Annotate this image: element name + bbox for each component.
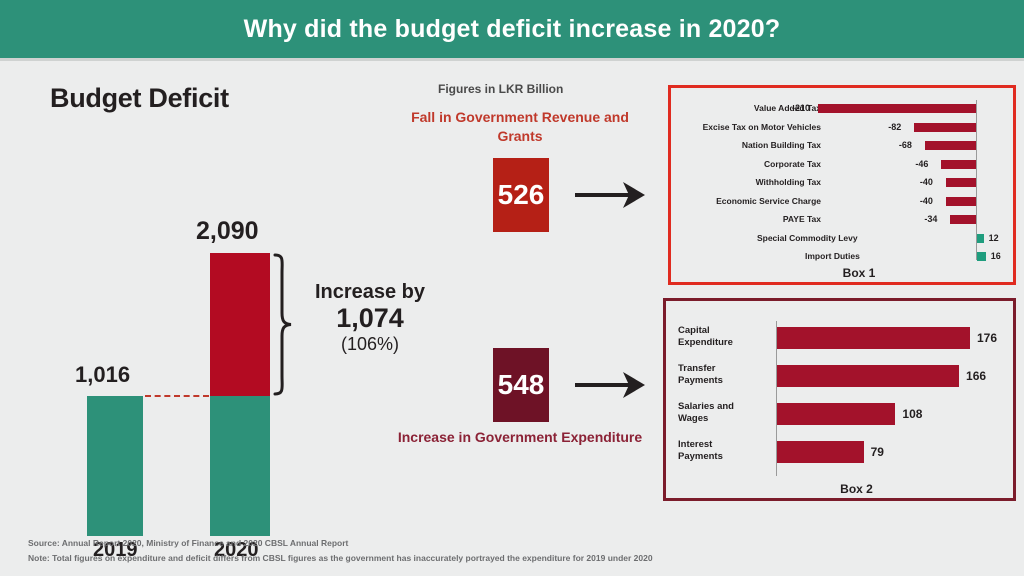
box1-bar-negative [946,197,976,206]
box1-row-label: Corporate Tax [669,158,821,171]
box2-bar [777,365,959,387]
arrow-right-icon [573,178,647,212]
box2-row: CapitalExpenditure176 [666,325,1013,359]
box2-row-value: 166 [966,365,986,387]
footer: Source: Annual Report 2020, Ministry of … [28,536,1008,566]
expenditure-caption: Increase in Government Expenditure [380,428,660,447]
value-label-2020: 2,090 [196,217,259,246]
revenue-value-box: 526 [493,158,549,232]
box1-row-value: -40 [920,176,933,189]
box1-row-value: 12 [989,232,999,245]
footer-note: Note: Total figures on expenditure and d… [28,551,1008,566]
box1-bar-negative [914,123,976,132]
box1-bar-negative [946,178,976,187]
box1-row-value: 16 [991,250,1001,263]
revenue-caption: Fall in Government Revenue and Grants [400,108,640,146]
box1-bar-negative [818,104,976,113]
box1-row-label: Special Commodity Levy [706,232,858,245]
box1-bar-negative [925,141,976,150]
box1-revenue-breakdown: Value Added Tax-210Excise Tax on Motor V… [668,85,1016,285]
box2-row-value: 176 [977,327,997,349]
box1-row-value: -46 [915,158,928,171]
box2-expenditure-breakdown: CapitalExpenditure176TransferPayments166… [663,298,1016,501]
box2-row: Salaries andWages108 [666,401,1013,435]
box2-row-label: Salaries andWages [678,401,774,424]
box2-bar [777,403,895,425]
box1-row-value: -40 [920,195,933,208]
box2-row: InterestPayments79 [666,439,1013,473]
infographic-root: Why did the budget deficit increase in 2… [0,0,1024,576]
box1-bar-positive [977,234,984,243]
increase-value: 1,074 [300,304,440,334]
box1-row: Excise Tax on Motor Vehicles-82 [671,121,976,134]
curly-brace-icon [272,253,294,396]
increase-by-label: Increase by [300,281,440,304]
footer-source: Source: Annual Report 2020, Ministry of … [28,536,1008,551]
box2-bar [777,327,970,349]
box1-row: Corporate Tax-46 [671,158,976,171]
bar-2020-base [210,396,270,536]
dashed-reference-line [145,395,209,397]
box1-row-label: Nation Building Tax [669,139,821,152]
box1-row-label: Withholding Tax [669,176,821,189]
increase-annotation: Increase by 1,074 (106%) [300,281,440,355]
page-title: Why did the budget deficit increase in 2… [244,15,781,44]
box2-row-label: InterestPayments [678,439,774,462]
box1-row-value: -82 [888,121,901,134]
box1-row-label: Import Duties [708,250,860,263]
bar-2020-increase [210,253,270,396]
budget-deficit-title: Budget Deficit [50,83,229,114]
box1-row-value: -210 [792,102,810,115]
box1-bar-negative [941,160,976,169]
box1-row-label: Economic Service Charge [669,195,821,208]
box1-bar-negative [950,215,976,224]
box1-row-label: Excise Tax on Motor Vehicles [669,121,821,134]
box1-row: Nation Building Tax-68 [671,139,976,152]
box2-bar [777,441,864,463]
box1-row-value: -34 [924,213,937,226]
box1-row: Special Commodity Levy12 [671,232,1013,245]
box2-row-value: 79 [871,441,884,463]
bar-2019-base [87,396,143,536]
box1-row: Withholding Tax-40 [671,176,976,189]
box1-row-label: PAYE Tax [669,213,821,226]
value-label-2019: 1,016 [75,362,130,388]
box2-row-value: 108 [902,403,922,425]
box1-row: Economic Service Charge-40 [671,195,976,208]
box1-row: Import Duties16 [671,250,1015,263]
box1-bar-positive [977,252,986,261]
expenditure-value-box: 548 [493,348,549,422]
figures-unit-note: Figures in LKR Billion [438,82,563,96]
arrow-right-icon [573,368,647,402]
box1-row-value: -68 [899,139,912,152]
box2-row: TransferPayments166 [666,363,1013,397]
box2-caption: Box 2 [666,482,1013,496]
box1-row: Value Added Tax-210 [671,102,976,115]
box1-row: PAYE Tax-34 [671,213,976,226]
box1-caption: Box 1 [671,266,1013,280]
budget-deficit-chart: Budget Deficit 1,016 2,090 2019 2020 Inc… [0,61,380,511]
box2-row-label: TransferPayments [678,363,774,386]
increase-percentage: (106%) [300,334,440,355]
box2-row-label: CapitalExpenditure [678,325,774,348]
header-banner: Why did the budget deficit increase in 2… [0,0,1024,58]
